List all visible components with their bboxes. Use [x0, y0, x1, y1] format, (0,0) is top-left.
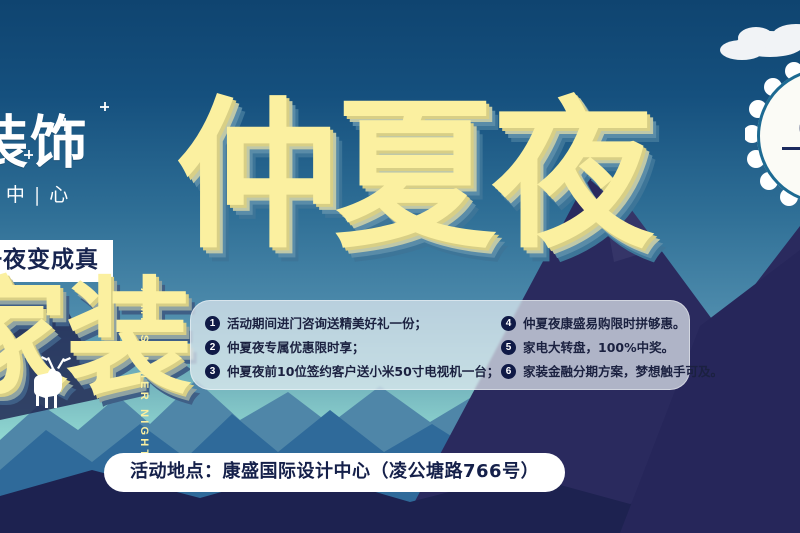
offer-item: 4 仲夏夜康盛易购限时拼够惠。 [501, 312, 701, 334]
offer-number-badge: 6 [501, 364, 516, 379]
offer-number-badge: 3 [205, 364, 220, 379]
badge-divider [782, 147, 800, 150]
offer-item: 3 仲夏夜前10位签约客户送小米50寸电视机一台； [205, 360, 495, 382]
deer-icon [24, 356, 76, 412]
offer-number-badge: 1 [205, 316, 220, 331]
brand-sub-char-2: 中 [0, 184, 34, 206]
offer-number-badge: 4 [501, 316, 516, 331]
offer-text: 仲夏夜前10位签约客户送小米50寸电视机一台； [227, 364, 499, 379]
main-headline: 仲夏夜 [176, 96, 650, 258]
offer-text: 家电大转盘，100%中奖。 [523, 340, 674, 355]
offer-number-badge: 5 [501, 340, 516, 355]
offer-item: 6 家装金融分期方案，梦想触手可及。 [501, 360, 701, 382]
offer-item: 1 活动期间进门咨询送精美好礼一份； [205, 312, 495, 334]
brand-sub-char-3: 心 [42, 184, 77, 206]
brand-logo: 盛装饰 設|計|中|心 [0, 112, 192, 206]
offers-panel: 1 活动期间进门咨询送精美好礼一份； 2 仲夏夜专属优惠限时享； 3 仲夏夜前1… [190, 300, 690, 390]
english-vertical-label: A MIDSUMMER NIGHT [138, 288, 150, 459]
offers-column-right: 4 仲夏夜康盛易购限时拼够惠。 5 家电大转盘，100%中奖。 6 家装金融分期… [495, 312, 701, 389]
offers-column-left: 1 活动期间进门咨询送精美好礼一份； 2 仲夏夜专属优惠限时享； 3 仲夏夜前1… [191, 312, 495, 389]
offer-item: 5 家电大转盘，100%中奖。 [501, 336, 701, 358]
date-time-badge: X 08/2 18: [745, 56, 800, 216]
offer-text: 家装金融分期方案，梦想触手可及。 [523, 364, 723, 379]
offer-text: 仲夏夜专属优惠限时享； [227, 340, 365, 355]
poster-canvas: 盛装饰 設|計|中|心 装梦 一夜变成真 家装 仲夏夜 A MIDSUMMER … [0, 0, 800, 533]
offer-text: 仲夏夜康盛易购限时拼够惠。 [523, 316, 686, 331]
offer-item: 2 仲夏夜专属优惠限时享； [205, 336, 495, 358]
offer-number-badge: 2 [205, 340, 220, 355]
brand-subtitle: 設|計|中|心 [0, 184, 192, 206]
offer-text: 活动期间进门咨询送精美好礼一份； [227, 316, 427, 331]
brand-name: 盛装饰 [0, 112, 192, 174]
address-pill: 活动地点：康盛国际设计中心（凌公塘路766号） [104, 453, 565, 492]
